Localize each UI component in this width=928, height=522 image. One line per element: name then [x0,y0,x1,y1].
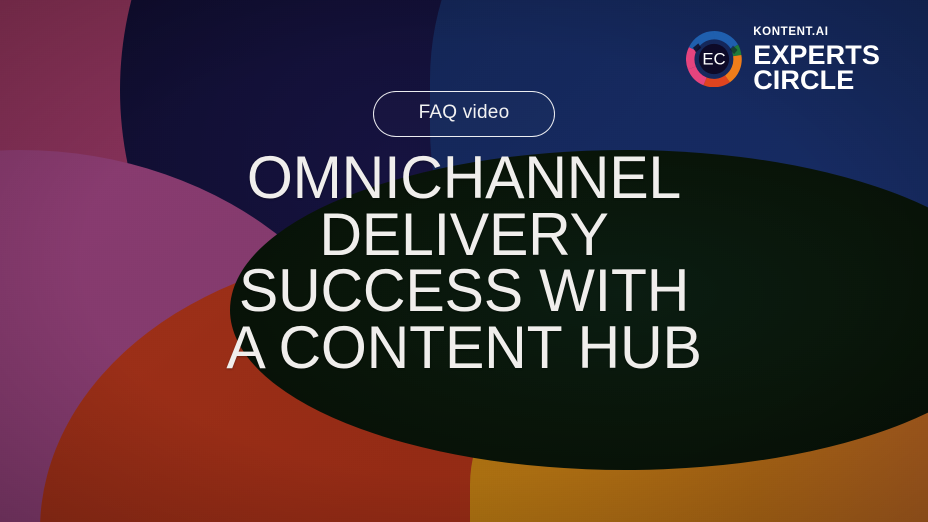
experts-circle-ring-icon: EC [686,31,742,87]
headline-line-4: A CONTENT HUB [7,320,921,377]
headline-line-2: DELIVERY [7,207,921,264]
video-thumbnail-canvas: EC KONTENT.AI EXPERTS CIRCLE FAQ video O… [0,0,928,522]
faq-video-badge[interactable]: FAQ video [373,91,555,137]
headline-line-1: OMNICHANNEL [7,150,921,207]
kontent-ai-wordmark: KONTENT.AI [753,27,880,39]
headline-line-3: SUCCESS WITH [7,263,921,320]
experts-word: EXPERTS [753,43,880,68]
brand-logo-lockup: EC KONTENT.AI EXPERTS CIRCLE [686,26,880,93]
experts-circle-wordmark: EXPERTS CIRCLE [753,43,880,93]
page-title: OMNICHANNEL DELIVERY SUCCESS WITH A CONT… [7,150,921,377]
circle-word: CIRCLE [753,68,880,93]
logo-monogram-text: EC [703,50,726,69]
brand-wordmark: KONTENT.AI EXPERTS CIRCLE [753,26,880,93]
